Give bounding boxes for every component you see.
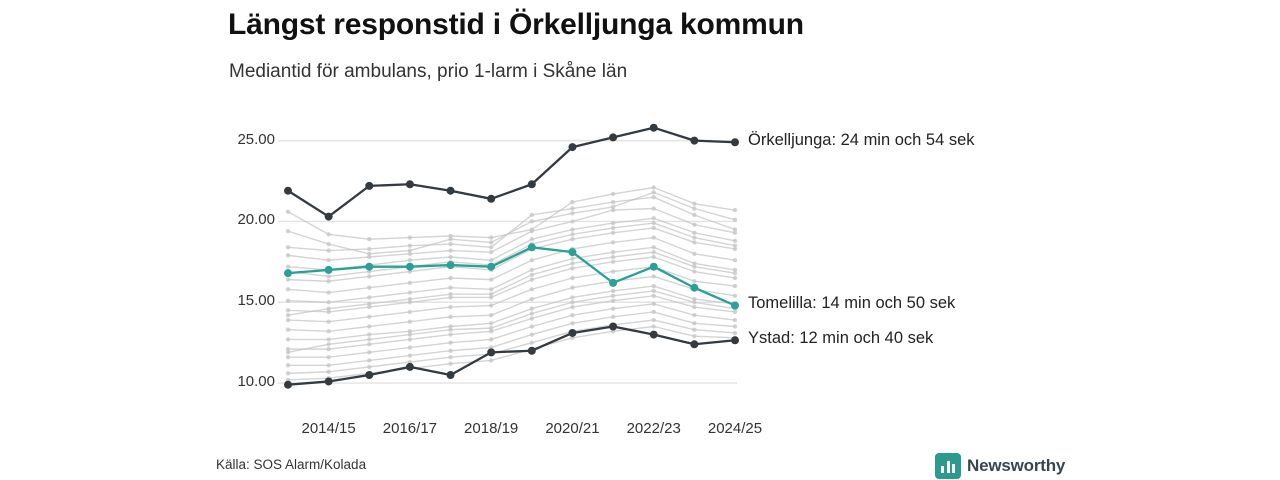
data-point — [447, 187, 455, 195]
data-point — [692, 265, 696, 269]
data-point — [489, 313, 493, 317]
data-point — [489, 358, 493, 362]
data-point — [325, 266, 333, 274]
data-point — [448, 255, 452, 259]
data-point — [692, 231, 696, 235]
data-point — [570, 300, 574, 304]
chart-container: Längst responstid i Örkelljunga kommun M… — [0, 0, 1280, 480]
data-point — [326, 337, 330, 341]
data-point — [408, 353, 412, 357]
data-point — [408, 337, 412, 341]
data-point — [652, 255, 656, 259]
data-point — [367, 358, 371, 362]
series-line — [288, 327, 735, 380]
x-axis-tick-label: 2016/17 — [364, 420, 456, 437]
data-point — [650, 124, 658, 132]
data-point — [286, 265, 290, 269]
series-end-label: Tomelilla: 14 min och 50 sek — [748, 294, 955, 313]
data-point — [286, 355, 290, 359]
data-point — [286, 229, 290, 233]
data-point — [326, 329, 330, 333]
data-point — [733, 218, 737, 222]
data-point — [284, 381, 292, 389]
data-point — [286, 318, 290, 322]
data-point — [692, 300, 696, 304]
data-point — [326, 290, 330, 294]
data-point — [448, 328, 452, 332]
data-point — [570, 232, 574, 236]
data-point — [611, 226, 615, 230]
data-point — [570, 321, 574, 325]
data-point — [692, 235, 696, 239]
line-chart-plot — [0, 0, 1280, 480]
data-point — [447, 261, 455, 269]
data-point — [326, 319, 330, 323]
data-point — [652, 206, 656, 210]
data-point — [489, 292, 493, 296]
data-point — [692, 252, 696, 256]
data-point — [530, 273, 534, 277]
data-point — [570, 227, 574, 231]
data-point — [609, 323, 617, 331]
data-point — [326, 363, 330, 367]
data-point — [652, 221, 656, 225]
x-axis-tick-label: 2022/23 — [608, 420, 700, 437]
data-point — [528, 243, 536, 251]
data-point — [408, 310, 412, 314]
data-point — [570, 211, 574, 215]
data-point — [530, 297, 534, 301]
data-point — [365, 263, 373, 271]
data-point — [530, 213, 534, 217]
data-point — [326, 232, 330, 236]
data-point — [568, 329, 576, 337]
data-point — [530, 219, 534, 223]
data-point — [530, 229, 534, 233]
data-point — [609, 279, 617, 287]
data-point — [367, 324, 371, 328]
data-point — [286, 350, 290, 354]
data-point — [690, 137, 698, 145]
data-point — [652, 245, 656, 249]
newsworthy-logo: Newsworthy — [935, 452, 1065, 480]
data-point — [326, 258, 330, 262]
data-point — [448, 361, 452, 365]
data-point — [487, 263, 495, 271]
data-point — [448, 340, 452, 344]
data-point — [652, 190, 656, 194]
data-point — [286, 313, 290, 317]
data-point — [652, 284, 656, 288]
data-point — [365, 371, 373, 379]
data-point — [408, 248, 412, 252]
data-point — [487, 348, 495, 356]
data-point — [448, 332, 452, 336]
data-point — [611, 255, 615, 259]
data-point — [448, 276, 452, 280]
data-point — [286, 287, 290, 291]
data-point — [530, 277, 534, 281]
series-end-label: Ystad: 12 min och 40 sek — [748, 329, 933, 348]
data-point — [367, 315, 371, 319]
data-point — [326, 279, 330, 283]
data-point — [367, 286, 371, 290]
data-point — [692, 206, 696, 210]
data-point — [568, 248, 576, 256]
data-point — [489, 287, 493, 291]
data-point — [733, 231, 737, 235]
data-point — [530, 324, 534, 328]
data-point — [570, 237, 574, 241]
data-point — [611, 260, 615, 264]
data-point — [448, 355, 452, 359]
data-point — [326, 307, 330, 311]
data-point — [489, 326, 493, 330]
data-point — [286, 328, 290, 332]
source-note: Källa: SOS Alarm/Kolada — [216, 457, 366, 472]
data-point — [448, 242, 452, 246]
data-point — [652, 195, 656, 199]
data-point — [286, 363, 290, 367]
data-point — [611, 200, 615, 204]
data-point — [692, 334, 696, 338]
data-point — [367, 252, 371, 256]
data-point — [570, 200, 574, 204]
series-line — [288, 286, 735, 339]
data-point — [570, 261, 574, 265]
y-axis-tick-label: 25.00 — [175, 131, 275, 148]
data-point — [286, 210, 290, 214]
data-point — [611, 205, 615, 209]
data-point — [652, 274, 656, 278]
data-point — [326, 300, 330, 304]
data-point — [325, 377, 333, 385]
data-point — [733, 208, 737, 212]
data-point — [448, 248, 452, 252]
data-point — [406, 363, 414, 371]
data-point — [406, 180, 414, 188]
data-point — [284, 269, 292, 277]
data-point — [652, 318, 656, 322]
data-point — [286, 308, 290, 312]
data-point — [365, 182, 373, 190]
data-point — [731, 138, 739, 146]
data-point — [326, 342, 330, 346]
data-point — [570, 305, 574, 309]
data-point — [611, 298, 615, 302]
data-point — [408, 319, 412, 323]
data-point — [367, 337, 371, 341]
data-point — [692, 222, 696, 226]
data-point — [733, 294, 737, 298]
data-point — [570, 266, 574, 270]
data-point — [530, 316, 534, 320]
data-point — [731, 301, 739, 309]
data-point — [568, 143, 576, 151]
data-point — [286, 277, 290, 281]
data-point — [609, 133, 617, 141]
data-point — [448, 349, 452, 353]
data-point — [652, 294, 656, 298]
data-point — [489, 337, 493, 341]
data-point — [530, 311, 534, 315]
data-point — [692, 213, 696, 217]
data-point — [489, 258, 493, 262]
data-point — [367, 302, 371, 306]
data-point — [611, 221, 615, 225]
data-point — [611, 294, 615, 298]
data-point — [650, 263, 658, 271]
data-point — [690, 284, 698, 292]
data-point — [692, 279, 696, 283]
series-line — [288, 327, 735, 385]
data-point — [530, 307, 534, 311]
data-point — [652, 235, 656, 239]
data-point — [611, 307, 615, 311]
data-point — [326, 274, 330, 278]
data-point — [652, 226, 656, 230]
data-point — [528, 347, 536, 355]
series-end-label: Örkelljunga: 24 min och 54 sek — [748, 131, 975, 150]
data-point — [692, 240, 696, 244]
data-point — [489, 245, 493, 249]
data-point — [367, 350, 371, 354]
data-point — [447, 371, 455, 379]
data-point — [326, 355, 330, 359]
data-point — [692, 313, 696, 317]
data-point — [733, 258, 737, 262]
data-point — [284, 187, 292, 195]
data-point — [367, 274, 371, 278]
data-point — [690, 340, 698, 348]
data-point — [367, 247, 371, 251]
data-point — [408, 290, 412, 294]
data-point — [326, 248, 330, 252]
data-point — [408, 332, 412, 336]
data-point — [325, 213, 333, 221]
data-point — [570, 313, 574, 317]
data-point — [448, 315, 452, 319]
data-point — [570, 286, 574, 290]
data-point — [448, 286, 452, 290]
bar-chart-icon — [935, 453, 961, 479]
data-point — [448, 292, 452, 296]
data-point — [530, 237, 534, 241]
data-point — [530, 340, 534, 344]
data-point — [530, 258, 534, 262]
data-point — [733, 284, 737, 288]
data-point — [570, 276, 574, 280]
data-point — [733, 318, 737, 322]
data-point — [530, 268, 534, 272]
data-point — [652, 302, 656, 306]
data-point — [408, 297, 412, 301]
data-point — [530, 332, 534, 336]
data-point — [731, 336, 739, 344]
data-point — [408, 243, 412, 247]
data-point — [652, 216, 656, 220]
data-point — [530, 287, 534, 291]
data-point — [652, 324, 656, 328]
data-point — [489, 277, 493, 281]
data-point — [367, 332, 371, 336]
logo-text: Newsworthy — [967, 456, 1065, 476]
data-point — [611, 250, 615, 254]
data-point — [611, 269, 615, 273]
data-point — [406, 263, 414, 271]
x-axis-tick-label: 2018/19 — [445, 420, 537, 437]
data-point — [692, 328, 696, 332]
data-point — [487, 195, 495, 203]
data-point — [611, 231, 615, 235]
data-point — [611, 315, 615, 319]
data-point — [733, 243, 737, 247]
data-point — [692, 269, 696, 273]
data-point — [570, 219, 574, 223]
data-point — [570, 206, 574, 210]
y-axis-tick-label: 15.00 — [175, 292, 275, 309]
data-point — [611, 240, 615, 244]
data-point — [489, 321, 493, 325]
data-point — [367, 342, 371, 346]
data-point — [570, 295, 574, 299]
data-point — [733, 324, 737, 328]
data-point — [611, 289, 615, 293]
x-axis-tick-label: 2024/25 — [689, 420, 781, 437]
data-point — [367, 365, 371, 369]
data-point — [652, 310, 656, 314]
data-point — [408, 258, 412, 262]
data-point — [733, 239, 737, 243]
data-point — [489, 250, 493, 254]
data-point — [326, 242, 330, 246]
data-point — [367, 295, 371, 299]
data-point — [286, 337, 290, 341]
y-axis-tick-label: 10.00 — [175, 373, 275, 390]
data-point — [448, 305, 452, 309]
data-point — [650, 331, 658, 339]
data-point — [489, 303, 493, 307]
data-point — [448, 237, 452, 241]
data-point — [570, 256, 574, 260]
data-point — [528, 180, 536, 188]
data-point — [326, 370, 330, 374]
y-axis-tick-label: 20.00 — [175, 211, 275, 228]
data-point — [733, 271, 737, 275]
data-point — [733, 276, 737, 280]
data-point — [652, 250, 656, 254]
data-point — [408, 235, 412, 239]
data-point — [408, 345, 412, 349]
data-point — [489, 240, 493, 244]
data-point — [286, 298, 290, 302]
data-point — [611, 192, 615, 196]
data-point — [286, 253, 290, 257]
x-axis-tick-label: 2014/15 — [283, 420, 375, 437]
data-point — [408, 281, 412, 285]
data-point — [652, 289, 656, 293]
data-point — [692, 321, 696, 325]
data-point — [286, 245, 290, 249]
data-point — [692, 201, 696, 205]
data-point — [692, 305, 696, 309]
x-axis-tick-label: 2020/21 — [526, 420, 618, 437]
data-point — [286, 371, 290, 375]
data-point — [652, 185, 656, 189]
data-point — [367, 237, 371, 241]
data-point — [489, 235, 493, 239]
data-point — [326, 347, 330, 351]
data-point — [733, 331, 737, 335]
